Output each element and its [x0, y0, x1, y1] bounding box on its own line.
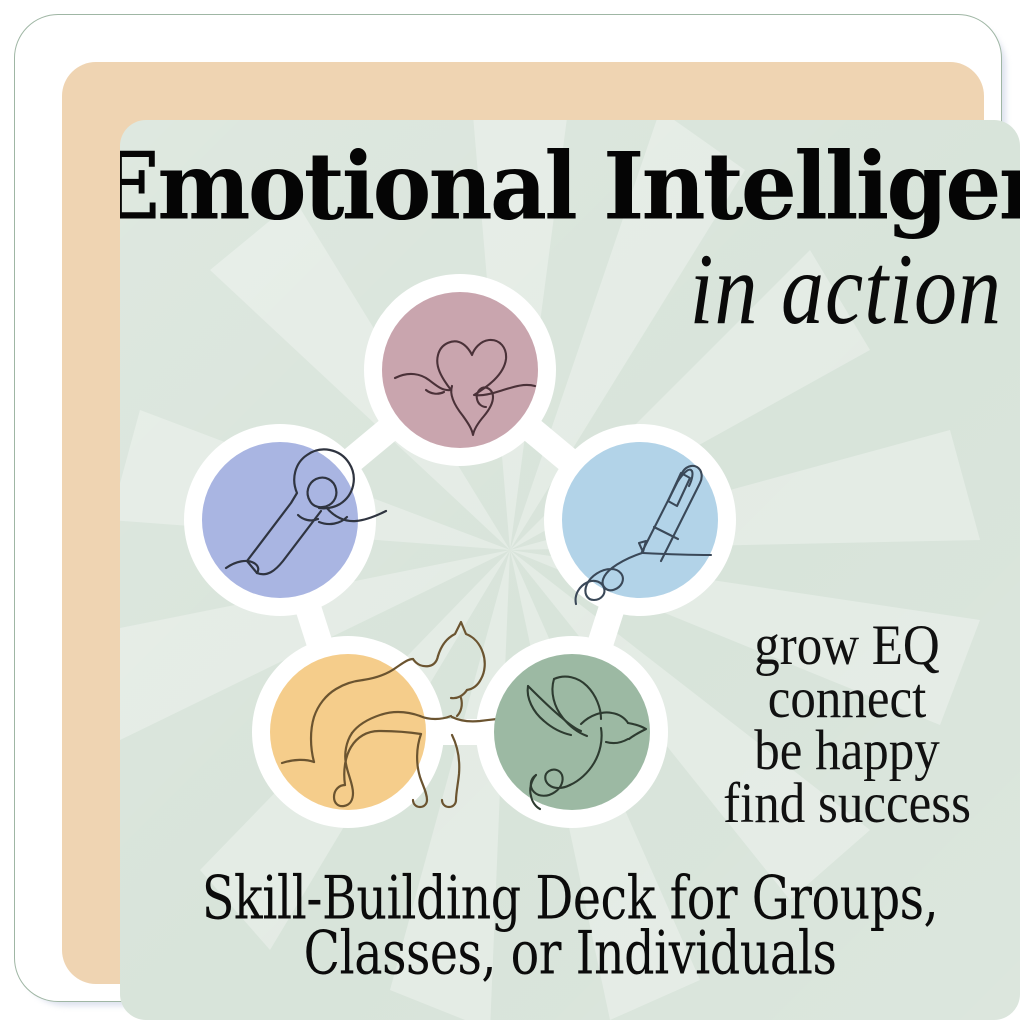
- node-heart[interactable]: [382, 292, 538, 448]
- tagline-line-4: find success: [682, 774, 1012, 833]
- node-key-disc[interactable]: [202, 442, 358, 598]
- tagline-block: grow EQ connect be happy find success: [682, 620, 1012, 830]
- sticker-die-cut: Emotional Intelligence in action: [14, 14, 1002, 1002]
- footer-line-2: Classes, or Individuals: [134, 921, 1007, 988]
- node-bird[interactable]: [494, 654, 650, 810]
- footer-text: Skill-Building Deck for Groups, Classes,…: [120, 872, 1020, 982]
- node-heart-disc[interactable]: [382, 292, 538, 448]
- sticker-stage: Emotional Intelligence in action: [0, 0, 1024, 1024]
- product-card: Emotional Intelligence in action: [120, 120, 1020, 1020]
- peach-inner-frame: Emotional Intelligence in action: [62, 62, 984, 984]
